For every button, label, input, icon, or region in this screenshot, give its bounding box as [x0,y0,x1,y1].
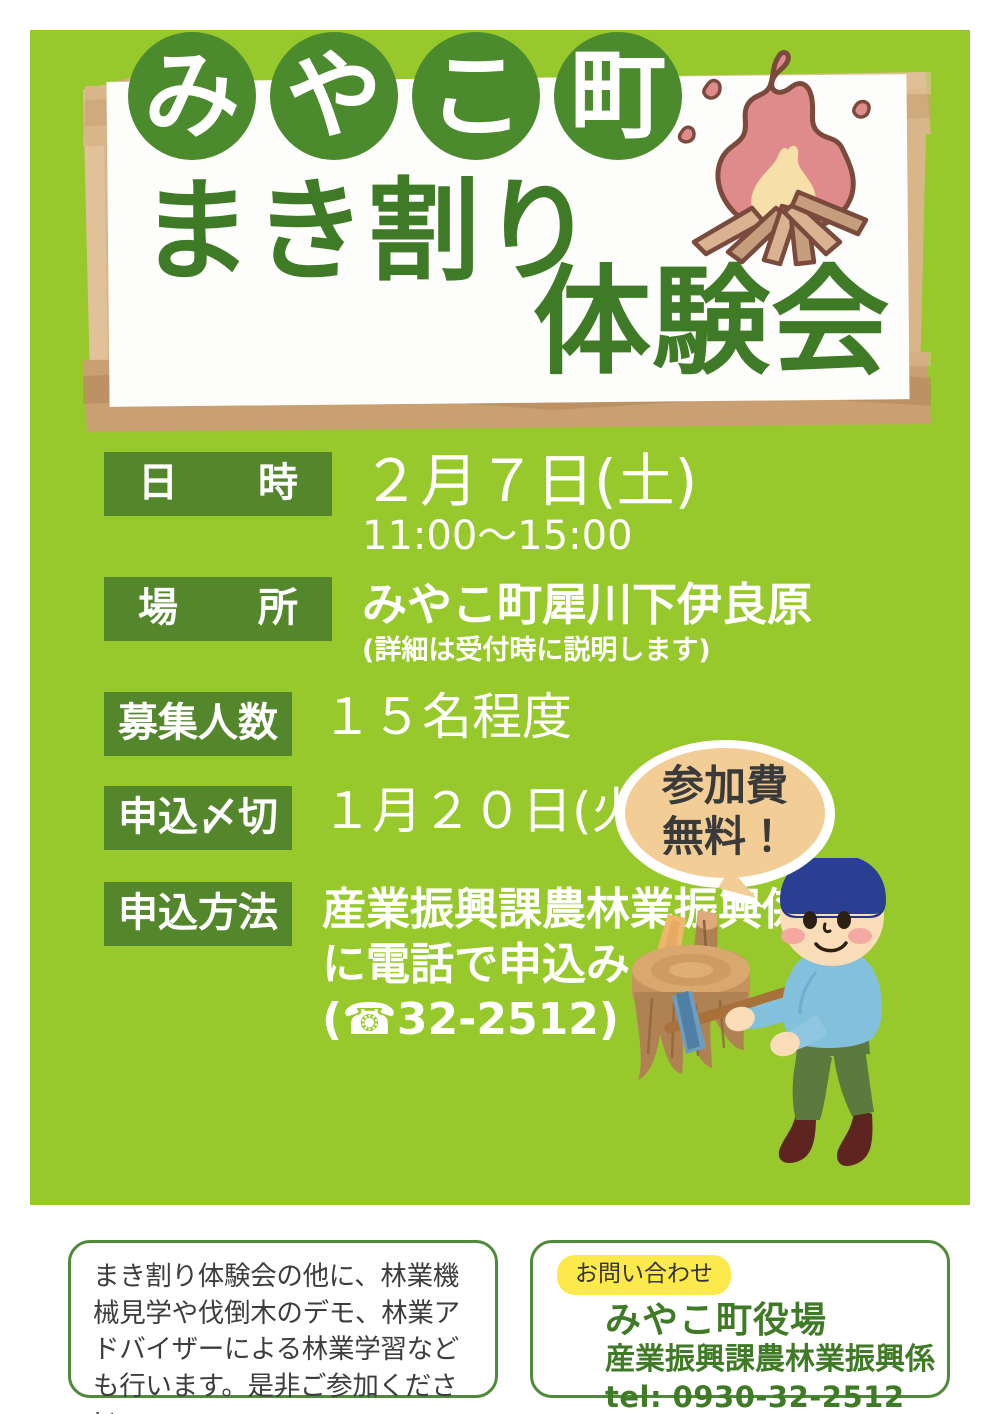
campfire-illustration [660,38,910,270]
title-line-taikenkai: 体験会 [533,263,890,381]
title-circle-3: こ [412,32,540,160]
contact-box: お問い合わせ みやこ町役場 産業振興課農林業振興係 tel: 0930-32-2… [530,1240,950,1398]
title-circle-2: や [270,32,398,160]
title-circle-1: み [128,32,256,160]
info-label-howto: 申込方法 [104,882,292,946]
info-label-place: 場 所 [104,577,332,641]
free-participation-bubble: 参加費 無料！ [612,736,838,914]
title-circle-row: み や こ 町 [128,32,682,160]
contact-badge: お問い合わせ [557,1255,731,1295]
datetime-date: ２月７日(土) [362,452,904,511]
contact-tel: tel: 0930-32-2512 [605,1379,947,1414]
info-label-deadline: 申込〆切 [104,786,292,850]
info-label-datetime: 日 時 [104,452,332,516]
campfire-icon [660,38,910,270]
bubble-text-wrap: 参加費 無料！ [612,760,838,862]
bottom-note-box: まき割り体験会の他に、林業機械見学や伐倒木のデモ、林業アドバイザーによる林業学習… [68,1240,498,1398]
place-name: みやこ町犀川下伊良原 [362,577,904,633]
contact-org: みやこ町役場 [605,1299,947,1342]
title-line-makiwari: まき割り [140,176,596,288]
poster-root: み や こ 町 まき割り 体験会 [0,0,1000,1414]
datetime-time: 11:00〜15:00 [362,513,904,559]
info-row-place: 場 所 みやこ町犀川下伊良原 (詳細は受付時に説明します) [104,577,904,666]
bubble-line-1: 参加費 [612,760,838,811]
info-value-place: みやこ町犀川下伊良原 (詳細は受付時に説明します) [362,577,904,666]
place-note: (詳細は受付時に説明します) [362,636,904,666]
contact-lines: みやこ町役場 産業振興課農林業振興係 tel: 0930-32-2512 [533,1299,947,1414]
info-value-datetime: ２月７日(土) 11:00〜15:00 [362,452,904,559]
info-label-capacity: 募集人数 [104,692,292,756]
bottom-note-text: まき割り体験会の他に、林業機械見学や伐倒木のデモ、林業アドバイザーによる林業学習… [93,1259,479,1414]
contact-dept: 産業振興課農林業振興係 [605,1342,947,1378]
info-row-datetime: 日 時 ２月７日(土) 11:00〜15:00 [104,452,904,559]
bubble-line-2: 無料！ [612,811,838,862]
